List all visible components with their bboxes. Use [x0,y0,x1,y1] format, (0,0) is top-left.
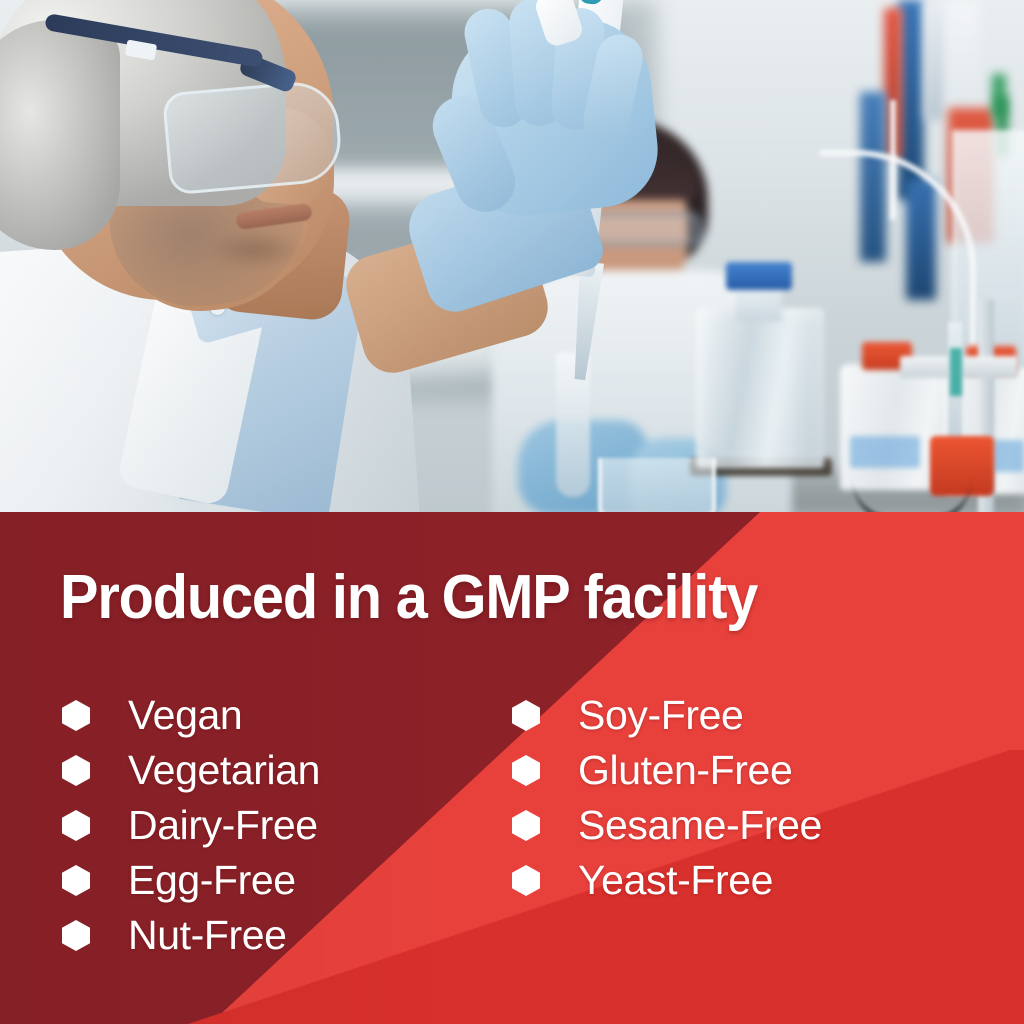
list-item: Egg-Free [62,853,320,908]
hexagon-bullet-icon [512,810,540,841]
burette-teal-marking [950,348,962,396]
glass-bottle [690,260,830,475]
claim-label: Vegetarian [128,750,320,791]
list-item: Vegetarian [62,743,320,798]
hexagon-bullet-icon [512,755,540,786]
hexagon-bullet-icon [512,865,540,896]
claims-column-left: Vegan Vegetarian Dairy-Free Egg-Free Nut… [62,688,320,963]
hexagon-bullet-icon [512,700,540,731]
claim-label: Sesame-Free [578,805,822,846]
claim-label: Dairy-Free [128,805,318,846]
claims-column-right: Soy-Free Gluten-Free Sesame-Free Yeast-F… [512,688,822,908]
hexagon-bullet-icon [62,810,90,841]
list-item: Dairy-Free [62,798,320,853]
hexagon-bullet-icon [62,755,90,786]
hexagon-bullet-icon [62,700,90,731]
promo-banner: Produced in a GMP facility Vegan Vegetar… [0,0,1024,1024]
hexagon-bullet-icon [62,865,90,896]
red-claims-panel: Produced in a GMP facility Vegan Vegetar… [0,512,1024,1024]
claim-label: Vegan [128,695,242,736]
grey-hair-back [0,20,120,250]
equipment-cord [852,478,972,513]
glass-bottle-body [696,308,824,468]
claim-label: Soy-Free [578,695,743,736]
list-item: Vegan [62,688,320,743]
lab-tubing-upper [890,100,956,220]
chin-shadow [208,230,304,270]
list-item: Gluten-Free [512,743,822,798]
page-title: Produced in a GMP facility [60,566,916,629]
list-item: Soy-Free [512,688,822,743]
list-item: Nut-Free [62,908,320,963]
laboratory-photo [0,0,1024,513]
safety-glasses-lens [162,79,344,196]
list-item: Sesame-Free [512,798,822,853]
hexagon-bullet-icon [62,920,90,951]
claim-label: Nut-Free [128,915,287,956]
glass-bottle-blue-cap [726,262,792,290]
gloved-hand-with-pipette [398,0,698,346]
list-item: Yeast-Free [512,853,822,908]
claim-label: Gluten-Free [578,750,792,791]
glass-beaker [598,458,716,513]
claim-label: Egg-Free [128,860,296,901]
claim-label: Yeast-Free [578,860,773,901]
jerrycan-left-label [850,436,920,468]
